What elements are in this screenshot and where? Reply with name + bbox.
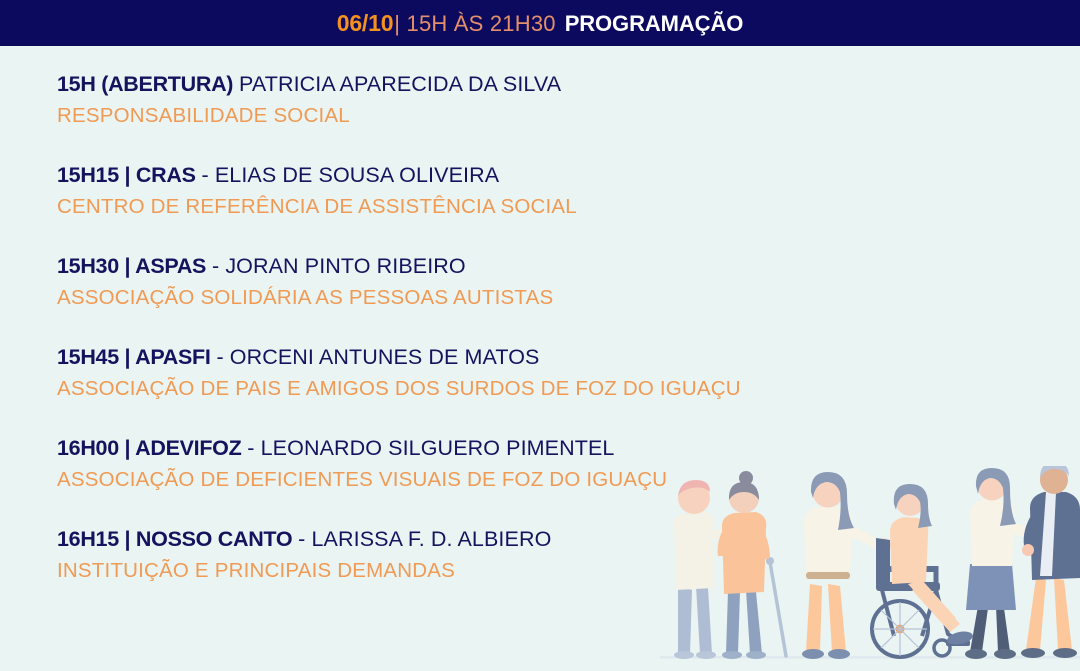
- schedule-entry-subtitle: ASSOCIAÇÃO DE DEFICIENTES VISUAIS DE FOZ…: [57, 466, 1037, 494]
- schedule-entry-headline: 15H45 | APASFI - ORCENI ANTUNES DE MATOS: [57, 343, 1037, 371]
- schedule-entry-headline: 16H00 | ADEVIFOZ - LEONARDO SILGUERO PIM…: [57, 434, 1037, 462]
- schedule-entry-headline: 16H15 | NOSSO CANTO - LARISSA F. D. ALBI…: [57, 525, 1037, 553]
- header-label: PROGRAMAÇÃO: [565, 11, 744, 37]
- header-time-range: | 15H ÀS 21H30: [394, 11, 555, 37]
- schedule-entry: 16H00 | ADEVIFOZ - LEONARDO SILGUERO PIM…: [57, 434, 1037, 494]
- schedule-entry-speaker: PATRICIA APARECIDA DA SILVA: [239, 72, 561, 96]
- schedule-entry-speaker: - LARISSA F. D. ALBIERO: [298, 527, 551, 551]
- schedule-entry: 15H15 | CRAS - ELIAS DE SOUSA OLIVEIRA C…: [57, 161, 1037, 221]
- schedule-entry-slot: 15H30 | ASPAS: [57, 254, 206, 278]
- schedule-entry-slot: 16H00 | ADEVIFOZ: [57, 436, 241, 460]
- schedule-entry-headline: 15H15 | CRAS - ELIAS DE SOUSA OLIVEIRA: [57, 161, 1037, 189]
- schedule-list: 15H (ABERTURA) PATRICIA APARECIDA DA SIL…: [57, 70, 1037, 585]
- schedule-entry-subtitle: ASSOCIAÇÃO SOLIDÁRIA AS PESSOAS AUTISTAS: [57, 284, 1037, 312]
- schedule-entry: 15H (ABERTURA) PATRICIA APARECIDA DA SIL…: [57, 70, 1037, 130]
- schedule-entry-speaker: - JORAN PINTO RIBEIRO: [212, 254, 466, 278]
- schedule-entry-headline: 15H30 | ASPAS - JORAN PINTO RIBEIRO: [57, 252, 1037, 280]
- schedule-entry-subtitle: ASSOCIAÇÃO DE PAIS E AMIGOS DOS SURDOS D…: [57, 375, 1037, 403]
- schedule-entry-headline: 15H (ABERTURA) PATRICIA APARECIDA DA SIL…: [57, 70, 1037, 98]
- schedule-entry-speaker: - LEONARDO SILGUERO PIMENTEL: [247, 436, 614, 460]
- schedule-entry-subtitle: RESPONSABILIDADE SOCIAL: [57, 102, 1037, 130]
- schedule-entry-subtitle: CENTRO DE REFERÊNCIA DE ASSISTÊNCIA SOCI…: [57, 193, 1037, 221]
- schedule-entry: 15H30 | ASPAS - JORAN PINTO RIBEIRO ASSO…: [57, 252, 1037, 312]
- schedule-entry-subtitle: INSTITUIÇÃO E PRINCIPAIS DEMANDAS: [57, 557, 1037, 585]
- schedule-entry-slot: 15H45 | APASFI: [57, 345, 211, 369]
- schedule-entry-slot: 15H (ABERTURA): [57, 72, 233, 96]
- header-bar: 06/10 | 15H ÀS 21H30 PROGRAMAÇÃO: [0, 0, 1080, 46]
- schedule-entry-speaker: - ELIAS DE SOUSA OLIVEIRA: [202, 163, 500, 187]
- schedule-entry-slot: 15H15 | CRAS: [57, 163, 196, 187]
- header-date: 06/10: [337, 10, 394, 37]
- header-title: 06/10 | 15H ÀS 21H30 PROGRAMAÇÃO: [337, 10, 744, 37]
- schedule-entry-slot: 16H15 | NOSSO CANTO: [57, 527, 292, 551]
- schedule-entry: 15H45 | APASFI - ORCENI ANTUNES DE MATOS…: [57, 343, 1037, 403]
- schedule-entry: 16H15 | NOSSO CANTO - LARISSA F. D. ALBI…: [57, 525, 1037, 585]
- schedule-entry-speaker: - ORCENI ANTUNES DE MATOS: [216, 345, 539, 369]
